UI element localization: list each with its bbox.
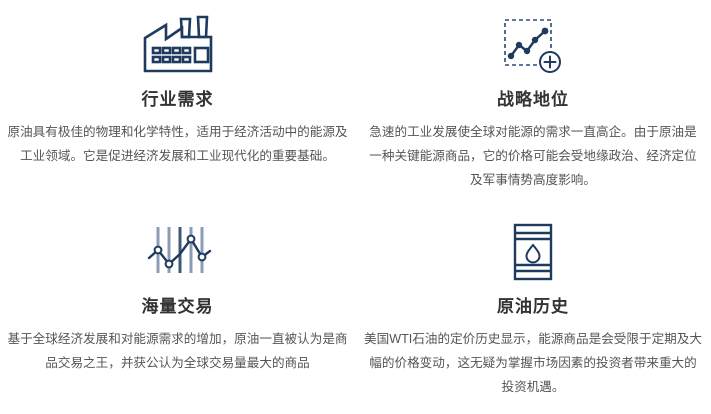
- feature-card-crude-oil-history: 原油历史 美国WTI石油的定价历史显示，能源商品是会受限于定期及大幅的价格变动，…: [355, 207, 711, 414]
- card-description: 急速的工业发展使全球对能源的需求一直高企。由于原油是一种关键能源商品，它的价格可…: [363, 120, 703, 192]
- card-title: 行业需求: [142, 90, 214, 110]
- card-description: 原油具有极佳的物理和化学特性，适用于经济活动中的能源及工业领域。它是促进经济发展…: [5, 120, 350, 168]
- feature-cards-grid: 行业需求 原油具有极佳的物理和化学特性，适用于经济活动中的能源及工业领域。它是促…: [0, 0, 711, 414]
- card-title: 海量交易: [142, 297, 214, 317]
- feature-card-industry-demand: 行业需求 原油具有极佳的物理和化学特性，适用于经济活动中的能源及工业领域。它是促…: [0, 0, 355, 207]
- feature-card-massive-trading: 海量交易 基于全球经济发展和对能源需求的增加，原油一直被认为是商品交易之王，并获…: [0, 207, 355, 414]
- trend-chart-add-icon: [497, 6, 569, 84]
- card-title: 战略地位: [497, 90, 569, 110]
- feature-card-strategic-position: 战略地位 急速的工业发展使全球对能源的需求一直高企。由于原油是一种关键能源商品，…: [355, 0, 711, 207]
- card-description: 美国WTI石油的定价历史显示，能源商品是会受限于定期及大幅的价格变动，这无疑为掌…: [363, 327, 703, 399]
- factory-icon: [140, 6, 216, 84]
- card-description: 基于全球经济发展和对能源需求的增加，原油一直被认为是商品交易之王，并获公认为全球…: [5, 327, 350, 375]
- volume-chart-icon: [143, 213, 213, 291]
- card-title: 原油历史: [497, 297, 569, 317]
- oil-barrel-icon: [507, 213, 559, 291]
